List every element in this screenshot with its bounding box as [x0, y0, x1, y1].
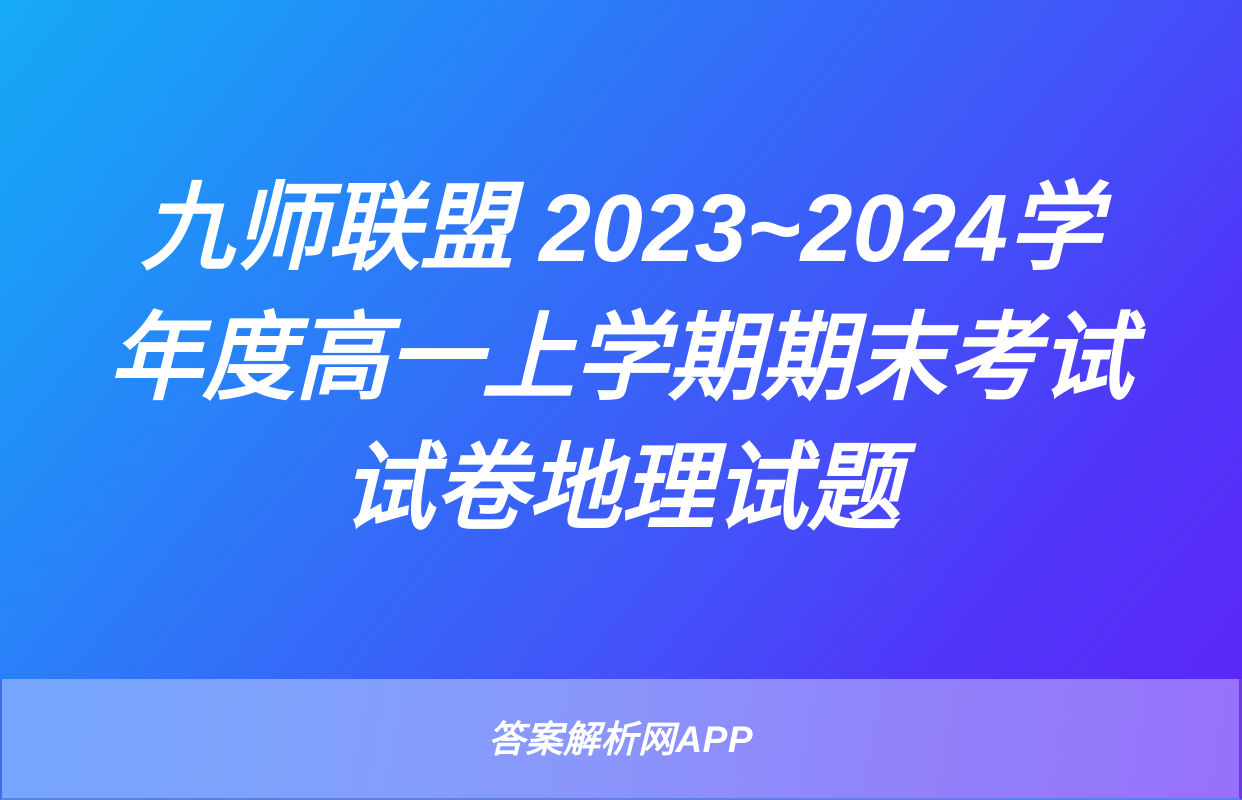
title-line-3: 试卷地理试题	[342, 424, 901, 554]
footer-brand-band: 答案解析网APP	[0, 679, 1242, 800]
title-line-1: 九师联盟 2023~2024学	[141, 164, 1101, 294]
poster-canvas: 九师联盟 2023~2024学 年度高一上学期期末考试 试卷地理试题 答案解析网…	[0, 0, 1242, 800]
poster-title-block: 九师联盟 2023~2024学 年度高一上学期期末考试 试卷地理试题	[0, 0, 1242, 679]
title-line-2: 年度高一上学期期末考试	[109, 294, 1133, 424]
app-brand-label: 答案解析网APP	[488, 721, 753, 758]
